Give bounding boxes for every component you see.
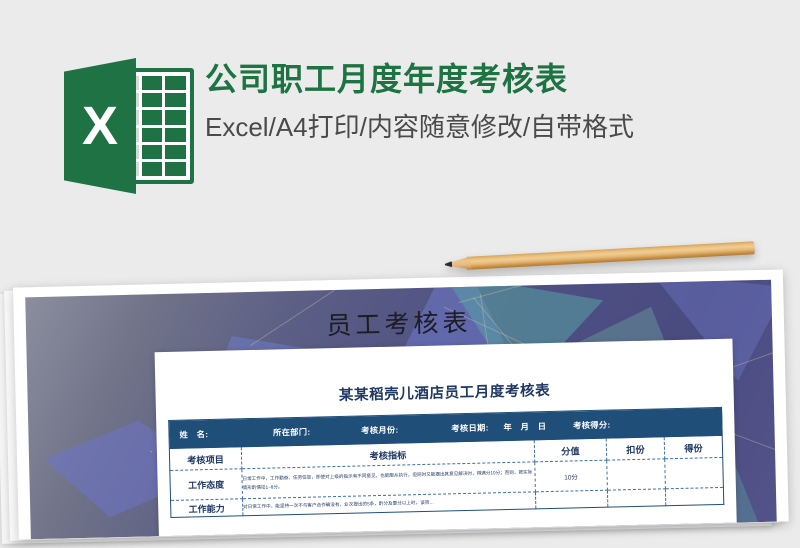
- row-item: 工作态度: [170, 469, 243, 501]
- info-field-department: 所在部门:: [273, 425, 311, 438]
- pencil-lead: [445, 261, 452, 267]
- column-header-deduct: 扣份: [606, 437, 665, 460]
- header-banner: X 公司职工月度年度考核表 Excel/A4打印/内容随意修改/自带格式: [0, 0, 800, 218]
- excel-logo-letter: X: [64, 58, 136, 196]
- info-field-name: 姓 名:: [179, 428, 208, 441]
- row-result: [665, 457, 724, 488]
- row-score: [535, 490, 607, 509]
- info-field-ymd: 年 月 日: [503, 420, 546, 433]
- info-field-month: 考核月份:: [361, 423, 399, 436]
- banner-background: 员工考核表 某某稻壳儿酒店员工月度考核表 姓 名: 所在部门: 考核月份:: [25, 280, 776, 540]
- row-deduct: [607, 459, 666, 490]
- pencil-body: [467, 241, 755, 270]
- page-title: 公司职工月度年度考核表: [205, 60, 634, 98]
- document-sheet[interactable]: 员工考核表 某某稻壳儿酒店员工月度考核表 姓 名: 所在部门: 考核月份:: [13, 269, 789, 539]
- column-header-result: 得份: [664, 435, 723, 458]
- row-score: 10分: [535, 460, 608, 492]
- info-field-total: 考核得分:: [573, 418, 611, 431]
- column-header-item: 考核项目: [169, 447, 241, 471]
- page-subtitle: Excel/A4打印/内容随意修改/自带格式: [205, 112, 634, 143]
- document-preview[interactable]: 员工考核表 某某稻壳儿酒店员工月度考核表 姓 名: 所在部门: 考核月份:: [0, 269, 788, 547]
- info-field-date: 考核日期:: [451, 421, 489, 434]
- row-deduct: [607, 489, 665, 507]
- row-result: [665, 487, 723, 505]
- column-header-score: 分值: [534, 438, 606, 462]
- excel-logo: X: [64, 58, 202, 196]
- evaluation-table: 姓 名: 所在部门: 考核月份: 考核日期: 年 月 日 考核得分: 考核项目 …: [168, 407, 724, 518]
- inner-page: 某某稻壳儿酒店员工月度考核表 姓 名: 所在部门: 考核月份: 考核日期:: [155, 339, 737, 540]
- title-block: 公司职工月度年度考核表 Excel/A4打印/内容随意修改/自带格式: [205, 60, 634, 144]
- pencil-tip: [449, 257, 472, 271]
- document-title: 某某稻壳儿酒店员工月度考核表: [155, 375, 733, 410]
- pencil-icon: [445, 241, 755, 272]
- row-item: 工作能力: [171, 499, 243, 518]
